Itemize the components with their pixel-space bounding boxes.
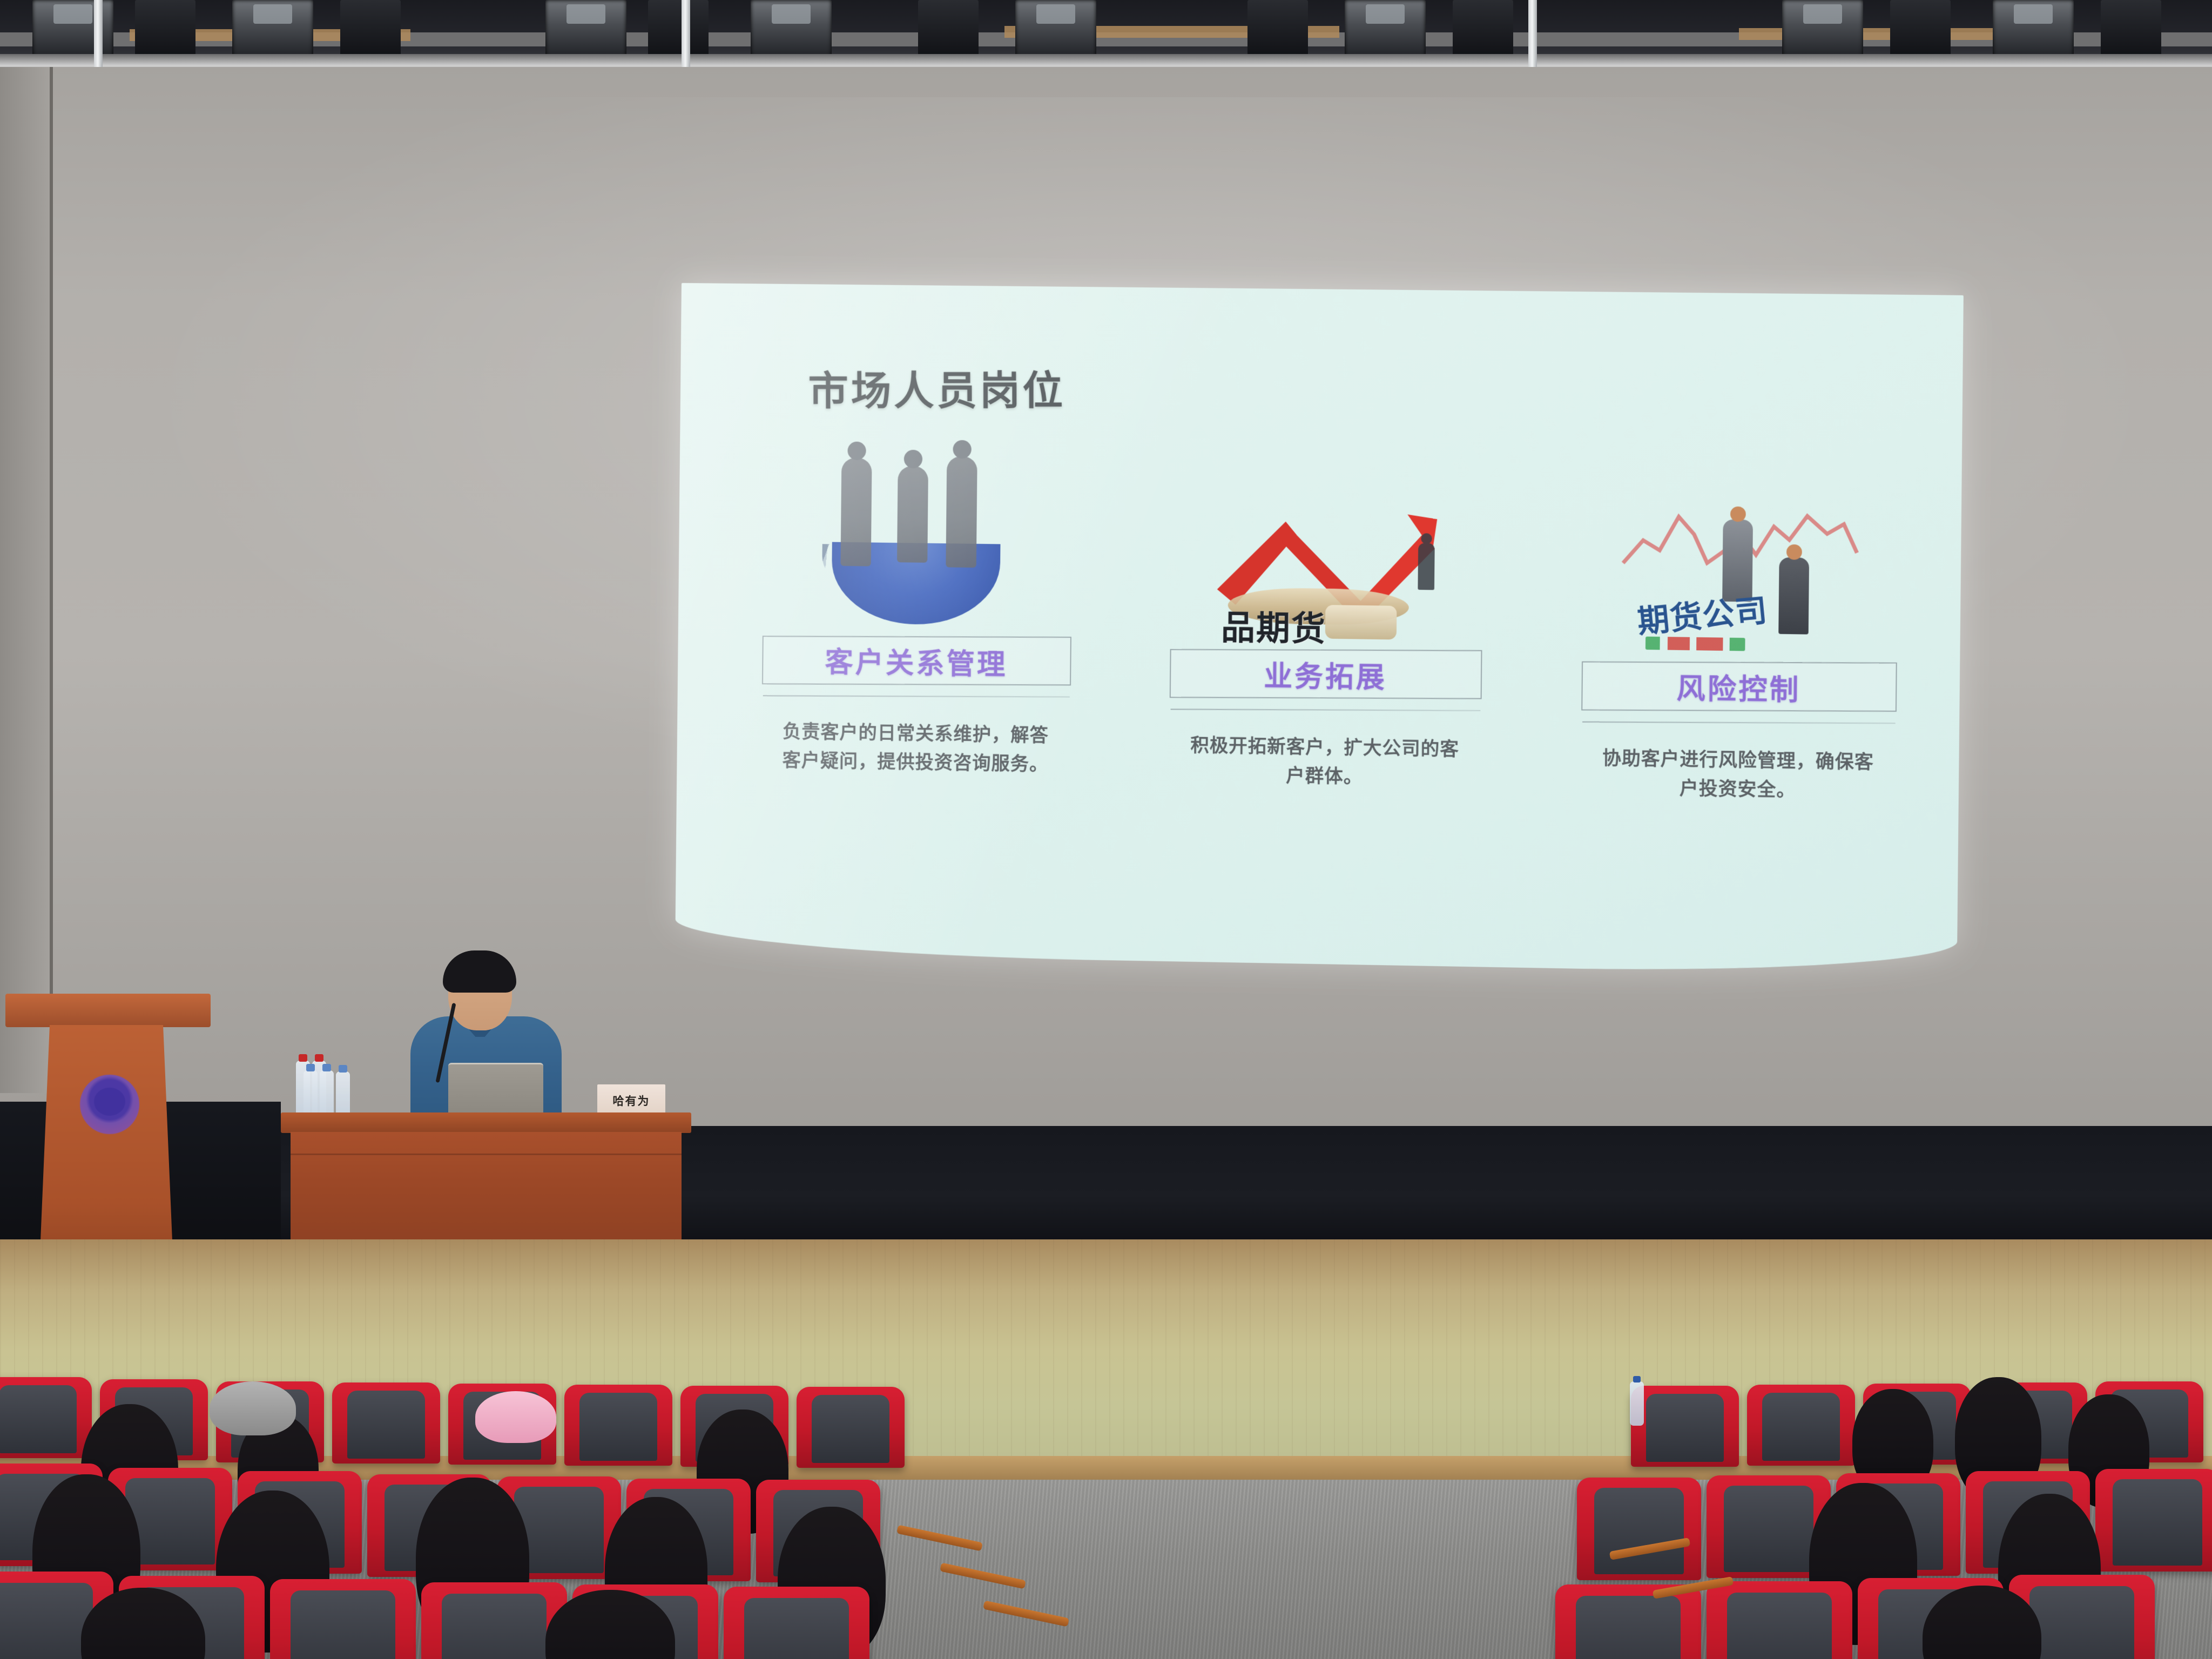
column-body-text: 负责客户的日常关系维护，解答客户疑问，提供投资咨询服务。 bbox=[779, 718, 1051, 779]
stage-light-icon bbox=[751, 0, 832, 60]
ceiling-support-bar bbox=[1528, 0, 1537, 69]
seat-armrest bbox=[896, 1525, 983, 1552]
auditorium-seat[interactable] bbox=[2095, 1469, 2212, 1572]
column-heading-box: 业务拓展 bbox=[1169, 649, 1482, 699]
slide-columns: 客户关系管理 负责客户的日常关系维护，解答客户疑问，提供投资咨询服务。 bbox=[736, 462, 1924, 892]
water-bottle bbox=[1630, 1381, 1644, 1426]
column-body-text: 积极开拓新客户，扩大公司的客户群体。 bbox=[1188, 731, 1462, 793]
ceiling-support-bar bbox=[94, 0, 103, 69]
column-heading-box: 客户关系管理 bbox=[761, 636, 1071, 685]
slide-title: 市场人员岗位 bbox=[808, 359, 1065, 417]
auditorium-seat[interactable] bbox=[1707, 1581, 1852, 1659]
column-heading: 业务拓展 bbox=[1264, 653, 1387, 696]
lecture-hall-scene: 市场人员岗位 客户关系管理 负责客户的日常关系维护，解答客户疑 bbox=[0, 0, 2212, 1659]
stage-light-icon bbox=[232, 0, 313, 60]
businesspeople-globe-image bbox=[800, 463, 1035, 628]
seat-armrest bbox=[983, 1601, 1069, 1627]
heading-divider bbox=[1170, 709, 1480, 711]
slide-column: 品期货 业务拓展 积极开拓新客户，扩大公司的客户群体。 bbox=[1143, 474, 1509, 893]
heading-divider bbox=[1582, 721, 1895, 724]
projected-slide: 市场人员岗位 客户关系管理 负责客户的日常关系维护，解答客户疑 bbox=[675, 283, 1964, 975]
stage-light-icon bbox=[545, 0, 626, 60]
column-heading: 风险控制 bbox=[1676, 665, 1801, 708]
auditorium-seat[interactable] bbox=[797, 1387, 905, 1468]
audience-seating bbox=[0, 1372, 2212, 1659]
pink-cap-icon bbox=[475, 1391, 556, 1443]
name-placard-text: 哈有为 bbox=[613, 1092, 650, 1109]
auditorium-seat[interactable] bbox=[564, 1385, 672, 1466]
stage-light-icon bbox=[1247, 0, 1308, 56]
slide-column: 期货公司 风险控制 协助客户进行风险管理，确保客户投资安全。 bbox=[1554, 485, 1924, 907]
stage-light-icon bbox=[135, 0, 195, 56]
auditorium-seat[interactable] bbox=[270, 1579, 416, 1659]
stage-light-icon bbox=[648, 0, 709, 56]
column-body-text: 协助客户进行风险管理，确保客户投资安全。 bbox=[1599, 744, 1877, 806]
column-heading: 客户关系管理 bbox=[825, 639, 1008, 682]
stage-light-icon bbox=[1453, 0, 1513, 56]
stage-light-icon bbox=[2101, 0, 2161, 56]
auditorium-seat[interactable] bbox=[1577, 1478, 1701, 1580]
gray-cap-icon bbox=[210, 1381, 296, 1435]
stage-light-icon bbox=[1015, 0, 1096, 60]
wall-edge bbox=[50, 67, 53, 1093]
auditorium-seat[interactable] bbox=[0, 1377, 92, 1458]
laptop[interactable] bbox=[448, 1063, 543, 1118]
seat-armrest bbox=[940, 1563, 1026, 1589]
column-heading-box: 风险控制 bbox=[1581, 662, 1897, 712]
auditorium-seat[interactable] bbox=[1631, 1386, 1739, 1467]
ceiling-support-bar bbox=[682, 0, 690, 69]
auditorium-seat[interactable] bbox=[724, 1587, 869, 1659]
water-bottles bbox=[296, 1056, 361, 1117]
wall-side-panel bbox=[0, 67, 51, 1093]
artwork-caption: 品期货 bbox=[1221, 600, 1327, 650]
slide-column: 客户关系管理 负责客户的日常关系维护，解答客户疑问，提供投资咨询服务。 bbox=[736, 462, 1098, 879]
heading-divider bbox=[763, 695, 1069, 697]
stage-light-icon bbox=[1782, 0, 1863, 60]
auditorium-seat[interactable] bbox=[1555, 1584, 1701, 1659]
rising-arrow-coins-image: 品期货 bbox=[1208, 475, 1446, 642]
auditorium-seat[interactable] bbox=[332, 1382, 440, 1464]
stage-light-icon bbox=[1890, 0, 1951, 56]
university-seal-icon bbox=[80, 1075, 139, 1134]
stage-light-icon bbox=[1345, 0, 1426, 60]
businessmen-chart-image: 期货公司 bbox=[1620, 487, 1860, 654]
stage-light-icon bbox=[918, 0, 979, 56]
name-placard: 哈有为 bbox=[597, 1084, 665, 1117]
stage-light-icon bbox=[340, 0, 401, 56]
auditorium-seat[interactable] bbox=[1747, 1385, 1855, 1466]
stage-light-icon bbox=[1993, 0, 2074, 60]
